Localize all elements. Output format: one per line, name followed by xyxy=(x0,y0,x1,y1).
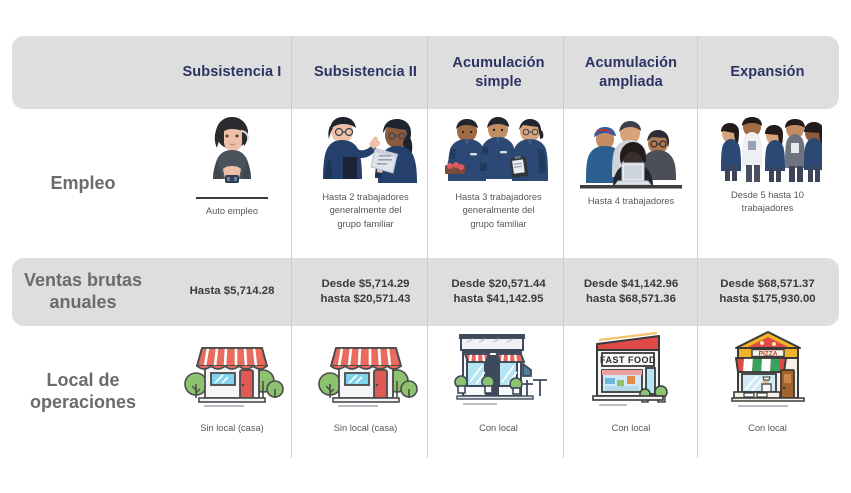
segment-comparison-table: Subsistencia I Subsistencia II Acumulaci… xyxy=(0,0,851,493)
cell-caption: Hasta 3 trabajadores generalmente del gr… xyxy=(447,191,549,231)
cell-ventas-expansion: Desde $68,571.37 hasta $175,930.00 xyxy=(698,258,837,326)
cell-value: Hasta $5,714.28 xyxy=(186,284,279,299)
column-header-acumulacion-ampliada: Acumulación ampliada xyxy=(564,36,698,109)
grid-spacer xyxy=(298,0,433,36)
cell-value: Desde $5,714.29 hasta $20,571.43 xyxy=(317,277,415,308)
grid-spacer xyxy=(433,458,564,493)
column-header-acumulacion-simple: Acumulación simple xyxy=(433,36,564,109)
row-label-text: Local de operaciones xyxy=(30,370,136,414)
four-workers-icon xyxy=(576,113,686,189)
cell-caption: Hasta 2 trabajadores generalmente del gr… xyxy=(314,191,416,231)
cell-empleo-expansion: Desde 5 hasta 10 trabajadores xyxy=(698,109,837,258)
cell-caption: Hasta 4 trabajadores xyxy=(580,195,682,208)
cell-caption: Con local xyxy=(471,422,526,435)
small-shop-icon xyxy=(180,334,284,412)
grid-spacer xyxy=(698,0,837,36)
cell-caption: Con local xyxy=(740,422,795,435)
row-label-empleo: Empleo xyxy=(0,109,166,258)
cell-caption: Sin local (casa) xyxy=(192,422,272,435)
ground-line xyxy=(196,197,268,199)
cell-empleo-acumulacion-ampliada: Hasta 4 trabajadores xyxy=(564,109,698,258)
cell-ventas-subsistencia-2: Desde $5,714.29 hasta $20,571.43 xyxy=(298,258,433,326)
cell-ventas-acumulacion-simple: Desde $20,571.44 hasta $41,142.95 xyxy=(433,258,564,326)
cell-caption: Sin local (casa) xyxy=(326,422,406,435)
fast-food-storefront-icon: FAST FOOD xyxy=(583,330,679,410)
row-label-text: Empleo xyxy=(50,173,115,195)
grid-spacer xyxy=(0,458,166,493)
cell-caption: Auto empleo xyxy=(198,205,266,218)
cell-empleo-subsistencia-2: Hasta 2 trabajadores generalmente del gr… xyxy=(298,109,433,258)
pizza-storefront-icon: PIZZA xyxy=(722,328,814,412)
column-header-line1: Subsistencia I xyxy=(183,64,282,80)
cell-empleo-subsistencia-1: Auto empleo xyxy=(166,109,298,258)
column-header-subsistencia-1: Subsistencia I xyxy=(166,36,298,109)
grid-spacer xyxy=(564,0,698,36)
cell-value: Desde $68,571.37 hasta $175,930.00 xyxy=(715,277,819,308)
grid-spacer xyxy=(698,458,837,493)
cell-caption: Con local xyxy=(604,422,659,435)
header-corner-empty xyxy=(0,36,166,109)
column-header-subsistencia-2: Subsistencia II xyxy=(298,36,433,109)
cell-ventas-acumulacion-ampliada: Desde $41,142.96 hasta $68,571.36 xyxy=(564,258,698,326)
grid-spacer xyxy=(166,0,298,36)
column-header-line1: Subsistencia II xyxy=(314,64,417,80)
single-person-icon xyxy=(193,113,271,197)
grid-spacer xyxy=(433,0,564,36)
cell-caption: Desde 5 hasta 10 trabajadores xyxy=(723,189,812,216)
cafe-storefront-icon xyxy=(449,330,549,410)
small-shop-icon xyxy=(314,334,418,412)
cell-value: Desde $20,571.44 hasta $41,142.95 xyxy=(447,277,549,308)
svg-text:PIZZA: PIZZA xyxy=(758,351,777,358)
grid-spacer xyxy=(0,0,166,36)
cell-value: Desde $41,142.96 hasta $68,571.36 xyxy=(580,277,682,308)
row-label-ventas: Ventas brutas anuales xyxy=(0,258,166,326)
cell-local-subsistencia-2: Sin local (casa) xyxy=(298,326,433,458)
column-header-line1: Acumulación xyxy=(452,54,544,72)
cell-ventas-subsistencia-1: Hasta $5,714.28 xyxy=(166,258,298,326)
grid-spacer xyxy=(564,458,698,493)
row-label-text: Ventas brutas anuales xyxy=(24,270,142,314)
row-label-local: Local de operaciones xyxy=(0,326,166,458)
grid-spacer xyxy=(298,458,433,493)
cell-local-acumulacion-ampliada: FAST FOOD xyxy=(564,326,698,458)
cell-local-acumulacion-simple: Con local xyxy=(433,326,564,458)
three-workers-icon xyxy=(443,113,555,185)
column-header-expansion: Expansión xyxy=(698,36,837,109)
five-workers-icon xyxy=(714,113,822,183)
table-grid: Subsistencia I Subsistencia II Acumulaci… xyxy=(0,0,851,493)
column-header-line2: simple xyxy=(452,73,544,91)
cell-local-expansion: PIZZA xyxy=(698,326,837,458)
cell-empleo-acumulacion-simple: Hasta 3 trabajadores generalmente del gr… xyxy=(433,109,564,258)
column-header-line2: ampliada xyxy=(585,73,677,91)
cell-local-subsistencia-1: Sin local (casa) xyxy=(166,326,298,458)
column-header-line1: Acumulación xyxy=(585,54,677,72)
column-header-line1: Expansión xyxy=(730,64,804,80)
svg-text:FAST FOOD: FAST FOOD xyxy=(600,355,656,365)
grid-spacer xyxy=(166,458,298,493)
two-workers-icon xyxy=(313,113,419,185)
